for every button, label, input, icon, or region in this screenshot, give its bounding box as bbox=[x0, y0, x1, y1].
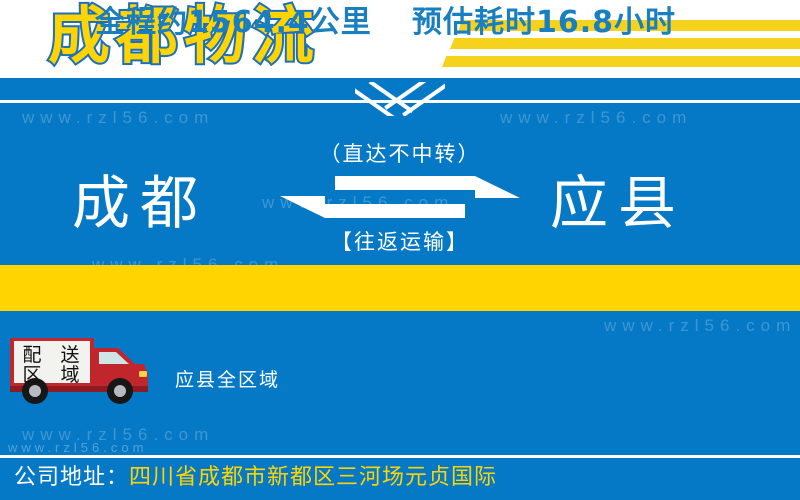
route-note-direct: （直达不中转） bbox=[280, 138, 520, 168]
destination-city: 应县 bbox=[550, 168, 686, 238]
divider-top bbox=[0, 100, 800, 103]
delivery-area-label: 应县全区域 bbox=[175, 365, 280, 392]
chevron-inner-left bbox=[369, 82, 414, 113]
stats-band bbox=[0, 265, 800, 311]
truck-char-4: 域 bbox=[60, 364, 79, 386]
truck-char-3: 区 bbox=[22, 364, 41, 386]
bidirectional-arrow-icon bbox=[280, 174, 520, 220]
watermark: www.rzl56.com bbox=[22, 108, 214, 128]
route-middle: （直达不中转） 【往返运输】 bbox=[280, 138, 520, 258]
origin-city: 成都 bbox=[72, 168, 208, 238]
distance-text: 全程约1564.4公里 bbox=[95, 2, 372, 44]
company-address: 公司地址：四川省成都市新都区三河场元贞国际 bbox=[14, 461, 497, 495]
address-value: 四川省成都市新都区三河场元贞国际 bbox=[129, 465, 497, 490]
address-label: 公司地址： bbox=[14, 465, 129, 490]
chevron-down-icon bbox=[355, 82, 445, 116]
route-note-roundtrip: 【往返运输】 bbox=[280, 226, 520, 256]
watermark: www.rzl56.com bbox=[604, 316, 796, 336]
stripe-3 bbox=[442, 56, 800, 67]
duration-text: 预估耗时16.8小时 bbox=[412, 2, 676, 44]
watermark: www.rzl56.com bbox=[8, 440, 147, 455]
truck-char-1: 配 bbox=[22, 344, 41, 366]
footer-bar: 公司地址：四川省成都市新都区三河场元贞国际 bbox=[0, 458, 800, 500]
watermark: www.rzl56.com bbox=[500, 108, 692, 128]
delivery-truck-icon: 配 送 区 域 bbox=[8, 334, 156, 406]
truck-char-2: 送 bbox=[60, 344, 79, 366]
logistics-banner: 成都物流 www.rzl56.com www.rzl56.com www.rzl… bbox=[0, 0, 800, 500]
